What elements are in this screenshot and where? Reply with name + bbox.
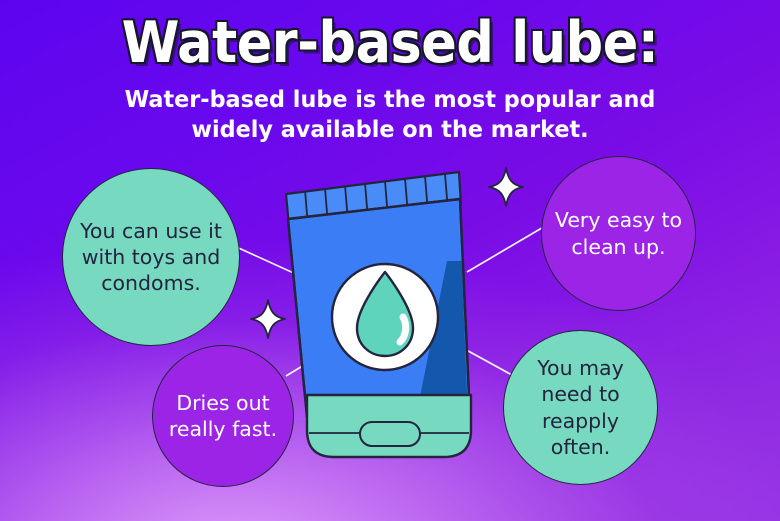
- sparkle-icon: [249, 298, 287, 340]
- fact-bubble-toys[interactable]: You can use it with toys and condoms.: [62, 168, 240, 346]
- header-block: Water-based lube: Water-based lube is th…: [0, 0, 780, 144]
- page-title: Water-based lube:: [31, 0, 749, 74]
- fact-bubble-reapply[interactable]: You may need to reapply often.: [503, 330, 658, 485]
- water-droplet-icon: [332, 264, 438, 370]
- tube-cap: [307, 395, 471, 457]
- fact-bubble-dries-label: Dries out really fast.: [153, 390, 293, 442]
- infographic-canvas: Water-based lube: Water-based lube is th…: [0, 0, 780, 521]
- fact-bubble-dries[interactable]: Dries out really fast.: [152, 345, 294, 487]
- fact-bubble-toys-label: You can use it with toys and condoms.: [63, 218, 239, 296]
- sparkle-icon: [487, 166, 525, 208]
- lube-tube-illustration: [272, 165, 502, 470]
- fact-bubble-clean[interactable]: Very easy to clean up.: [541, 156, 696, 311]
- fact-bubble-reapply-label: You may need to reapply often.: [504, 355, 657, 459]
- page-subtitle: Water-based lube is the most popular and…: [96, 84, 685, 144]
- fact-bubble-clean-label: Very easy to clean up.: [542, 207, 695, 259]
